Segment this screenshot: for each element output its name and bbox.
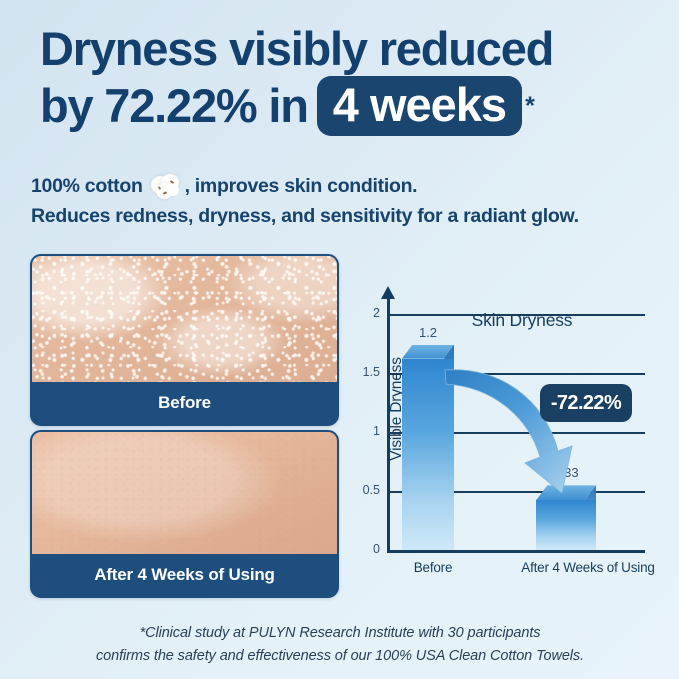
y-axis-tick [387,373,396,376]
after-photo-panel: After 4 Weeks of Using [30,430,339,598]
before-caption: Before [32,382,337,424]
headline: Dryness visibly reduced by 72.22% in 4 w… [40,22,650,136]
bar-0 [402,345,454,550]
subtitle-line-1: 100% cotton , improves skin condition. [31,172,651,202]
skin-dryness-chart: Skin Dryness Visible Dryness 00.511.52 1… [340,288,670,588]
bar-value-label-1: 0.33 [530,465,602,480]
bar-front-face [536,500,596,550]
subtitle: 100% cotton , improves skin condition. R… [31,172,651,232]
x-label-after: After 4 Weeks of Using [508,560,668,575]
headline-line-1: Dryness visibly reduced [40,22,650,76]
bar-value-label-0: 1.2 [396,325,460,340]
cotton-boll-icon [149,172,183,202]
after-caption: After 4 Weeks of Using [32,554,337,596]
y-axis-tick [387,314,396,317]
y-axis-tick [387,550,396,553]
dry-flakes-texture [32,256,337,382]
headline-asterisk: * [525,92,534,121]
y-tick-label: 2 [346,306,380,320]
bar-front-face [402,359,454,550]
subtitle-line-1-after: , improves skin condition. [185,172,418,202]
subtitle-line-2: Reduces redness, dryness, and sensitivit… [31,202,651,232]
after-skin-photo [32,432,337,554]
y-axis-line [387,296,390,553]
y-tick-label: 1 [346,424,380,438]
bar-1 [536,485,596,550]
gridline [387,314,645,316]
y-tick-label: 0.5 [346,483,380,497]
footnote-line-2: confirms the safety and effectiveness of… [60,645,620,668]
percent-change-badge: -72.22% [540,384,632,422]
headline-line-2-prefix: by 72.22% in [40,79,308,133]
y-tick-label: 1.5 [346,365,380,379]
headline-highlight-pill: 4 weeks [317,76,522,137]
x-label-before: Before [388,560,478,575]
promo-graphic: Dryness visibly reduced by 72.22% in 4 w… [0,0,679,679]
smooth-skin-texture [32,432,337,554]
footnote-line-1: *Clinical study at PULYN Research Instit… [60,622,620,645]
before-skin-photo [32,256,337,382]
y-axis-tick [387,432,396,435]
before-photo-panel: Before [30,254,339,426]
x-axis-line [387,550,645,553]
subtitle-line-1-before: 100% cotton [31,172,143,202]
y-tick-label: 0 [346,542,380,556]
y-axis-tick [387,491,396,494]
headline-line-2: by 72.22% in 4 weeks * [40,76,650,137]
footnote: *Clinical study at PULYN Research Instit… [60,622,620,669]
percent-change-value: -72.22% [551,392,621,415]
